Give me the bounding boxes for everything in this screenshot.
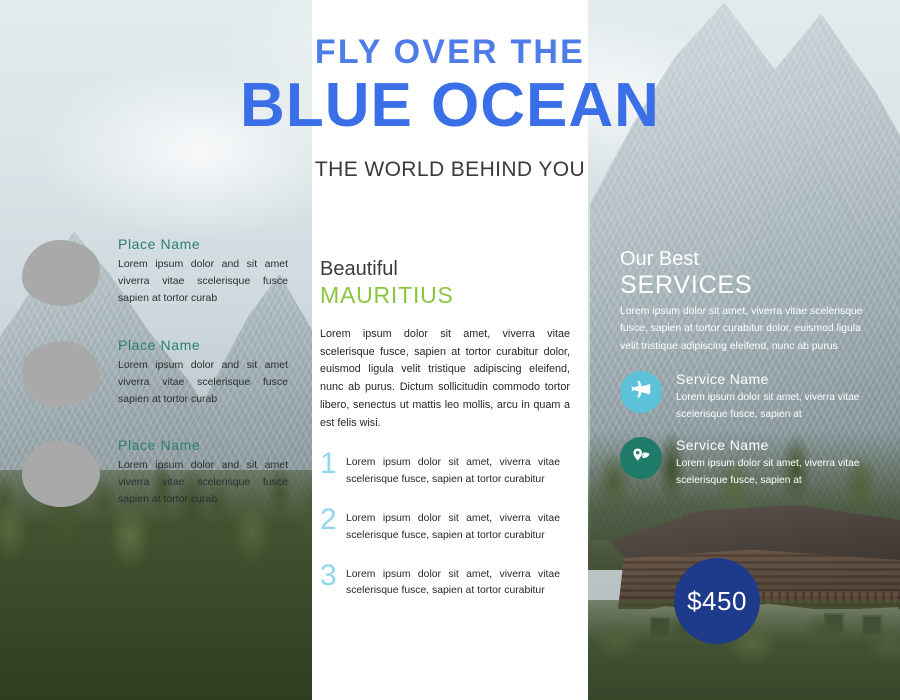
services-heading-top: Our Best <box>620 248 699 270</box>
place-thumbnail-image <box>22 240 100 306</box>
list-item-text: Lorem ipsum dolor sit amet, viverra vita… <box>346 561 560 601</box>
place-description: Lorem ipsum dolor and sit amet viverra v… <box>118 457 288 508</box>
list-item-text: Lorem ipsum dolor sit amet, viverra vita… <box>346 505 560 545</box>
service-description: Lorem ipsum dolor sit amet, viverra vita… <box>676 390 872 423</box>
numbered-list-item: 3 Lorem ipsum dolor sit amet, viverra vi… <box>320 561 570 601</box>
services-paragraph: Lorem ipsum dolor sit amet, viverra vita… <box>620 303 868 355</box>
center-content: Beautiful MAURITIUS Lorem ipsum dolor si… <box>320 258 570 616</box>
price-badge[interactable]: $450 <box>674 558 760 644</box>
hero-line-one: FLY OVER THE <box>0 34 900 71</box>
place-thumbnail-image <box>22 341 100 407</box>
place-list-item[interactable]: Place Name Lorem ipsum dolor and sit ame… <box>22 437 292 508</box>
place-thumbnail-image <box>22 441 100 507</box>
place-description: Lorem ipsum dolor and sit amet viverra v… <box>118 256 288 307</box>
price-value: $450 <box>687 586 747 617</box>
list-number: 3 <box>320 561 346 591</box>
hero-subtitle: THE WORLD BEHIND YOU <box>0 158 900 182</box>
place-list-item[interactable]: Place Name Lorem ipsum dolor and sit ame… <box>22 337 292 408</box>
destination-title-top: Beautiful <box>320 258 570 281</box>
services-heading-bottom: SERVICES <box>620 270 752 300</box>
travel-brochure: FLY OVER THE BLUE OCEAN THE WORLD BEHIND… <box>0 0 900 700</box>
place-name: Place Name <box>118 236 288 252</box>
airplane-icon <box>620 371 662 413</box>
destination-title-bottom: MAURITIUS <box>320 282 570 310</box>
service-name: Service Name <box>676 371 872 387</box>
service-list-item[interactable]: Service Name Lorem ipsum dolor sit amet,… <box>620 437 880 489</box>
service-list-item[interactable]: Service Name Lorem ipsum dolor sit amet,… <box>620 371 880 423</box>
numbered-feature-list: 1 Lorem ipsum dolor sit amet, viverra vi… <box>320 449 570 600</box>
place-description: Lorem ipsum dolor and sit amet viverra v… <box>118 357 288 408</box>
hero-header: FLY OVER THE BLUE OCEAN THE WORLD BEHIND… <box>0 34 900 182</box>
service-name: Service Name <box>676 437 872 453</box>
place-name: Place Name <box>118 437 288 453</box>
numbered-list-item: 2 Lorem ipsum dolor sit amet, viverra vi… <box>320 505 570 545</box>
place-list-item[interactable]: Place Name Lorem ipsum dolor and sit ame… <box>22 236 292 307</box>
place-name: Place Name <box>118 337 288 353</box>
hero-line-two: BLUE OCEAN <box>0 73 900 140</box>
service-description: Lorem ipsum dolor sit amet, viverra vita… <box>676 456 872 489</box>
list-number: 1 <box>320 449 346 479</box>
list-number: 2 <box>320 505 346 535</box>
map-pin-leaf-icon <box>620 437 662 479</box>
list-item-text: Lorem ipsum dolor sit amet, viverra vita… <box>346 449 560 489</box>
numbered-list-item: 1 Lorem ipsum dolor sit amet, viverra vi… <box>320 449 570 489</box>
destination-paragraph: Lorem ipsum dolor sit amet, viverra vita… <box>320 326 570 434</box>
